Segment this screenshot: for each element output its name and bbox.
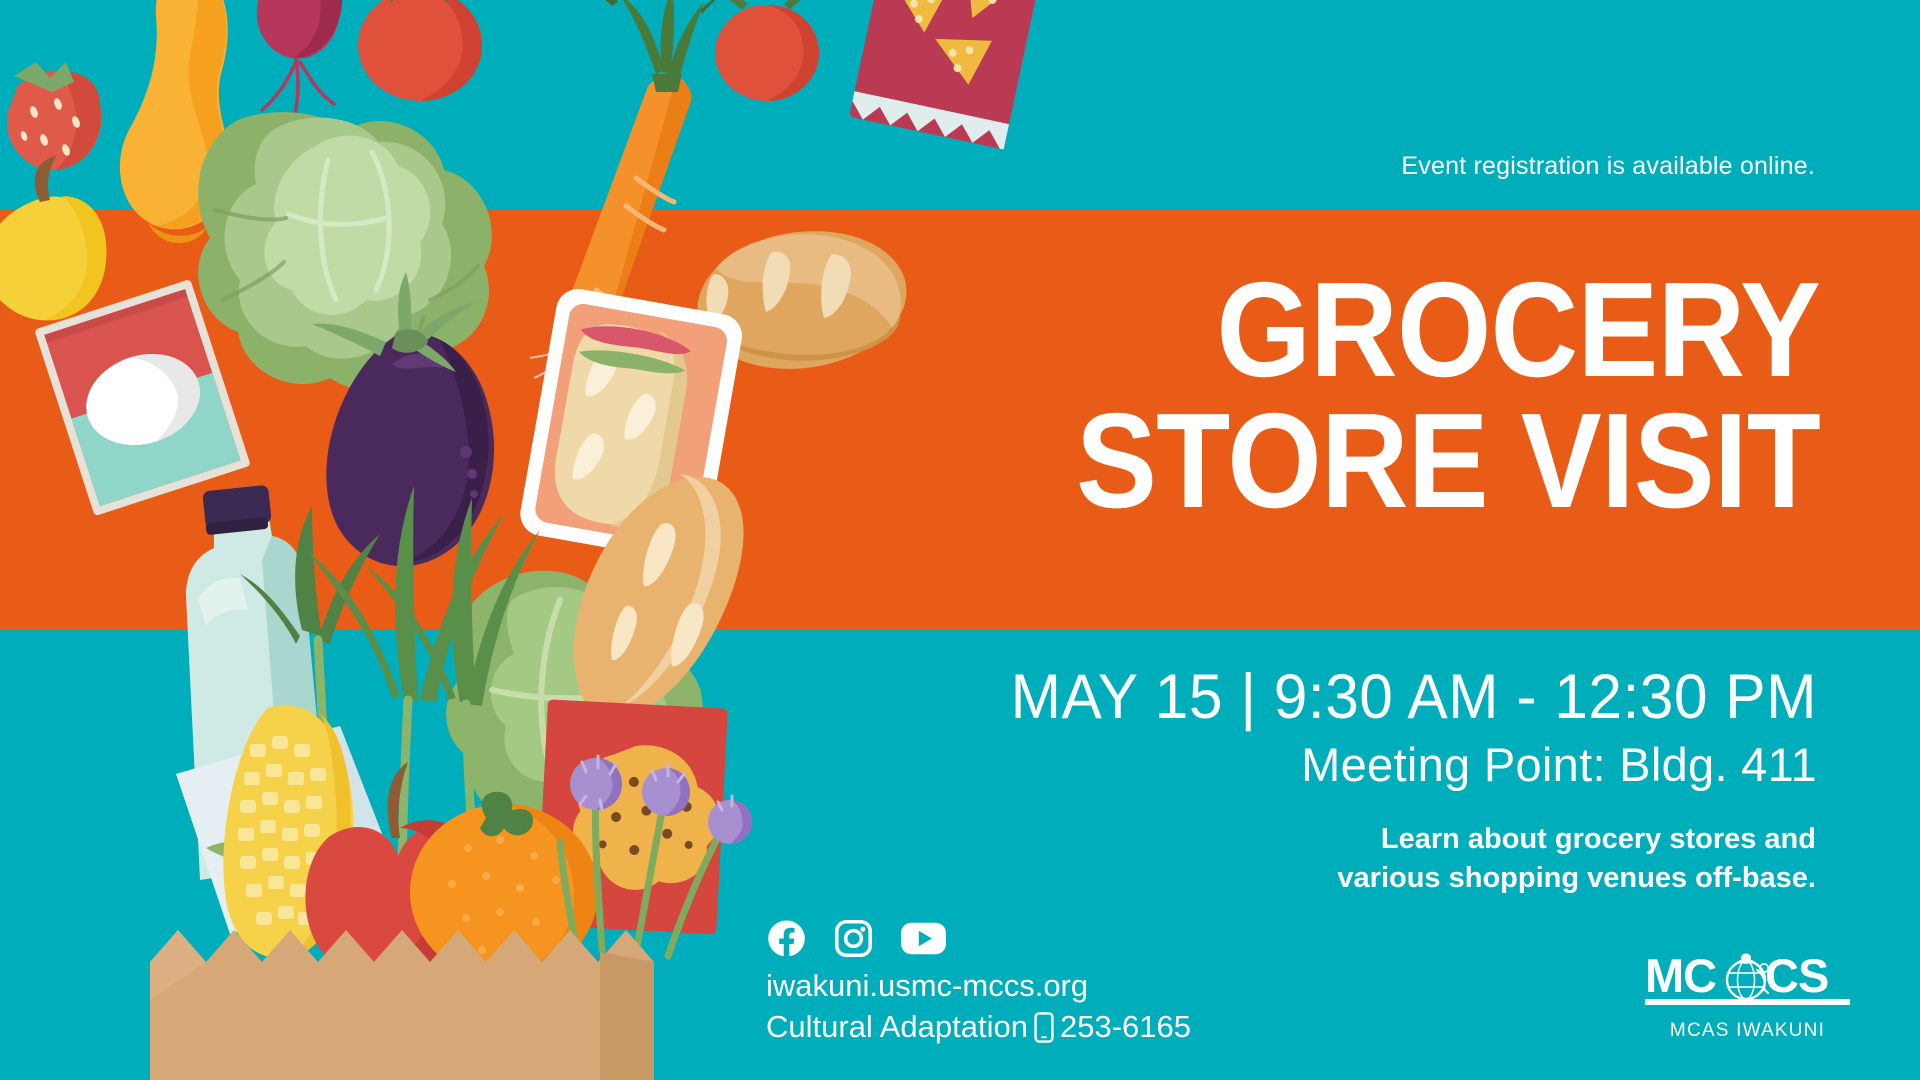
description-line-1: Learn about grocery stores and xyxy=(1381,823,1816,855)
contact-info: iwakuni.usmc-mccs.org Cultural Adaptatio… xyxy=(766,966,1191,1048)
event-description: Learn about grocery stores and various s… xyxy=(1096,820,1816,897)
mobile-phone-icon xyxy=(1034,1012,1054,1043)
poster-canvas: Event registration is available online. … xyxy=(0,0,1920,1080)
description-line-2: various shopping venues off-base. xyxy=(1337,862,1816,894)
title-line-1: GROCERY xyxy=(1216,254,1820,405)
youtube-icon[interactable] xyxy=(900,918,947,959)
svg-text:CS: CS xyxy=(1765,950,1828,1002)
event-meeting-point: Meeting Point: Bldg. 411 xyxy=(1301,737,1817,792)
mccs-wordmark-icon: MC CS xyxy=(1645,950,1850,1012)
page-title: GROCERY STORE VISIT xyxy=(740,265,1820,527)
registration-note: Event registration is available online. xyxy=(1401,152,1815,181)
website-url: iwakuni.usmc-mccs.org xyxy=(766,966,1088,1007)
svg-text:MC: MC xyxy=(1645,950,1716,1002)
website-line[interactable]: iwakuni.usmc-mccs.org xyxy=(766,966,1191,1007)
facebook-icon[interactable] xyxy=(766,918,807,959)
phone-number: 253-6165 xyxy=(1060,1007,1191,1048)
logo-sublabel: MCAS IWAKUNI xyxy=(1645,1020,1850,1042)
department-phone-line: Cultural Adaptation 253-6165 xyxy=(766,1007,1191,1048)
social-links xyxy=(766,918,947,959)
text-content-layer: Event registration is available online. … xyxy=(0,0,1920,1080)
title-line-2: STORE VISIT xyxy=(740,396,1820,527)
event-datetime: MAY 15 | 9:30 AM - 12:30 PM xyxy=(1011,661,1817,733)
department-name: Cultural Adaptation xyxy=(766,1007,1028,1048)
instagram-icon[interactable] xyxy=(833,918,874,959)
eagle-globe-anchor-icon xyxy=(1727,954,1768,1000)
mccs-logo: MC CS xyxy=(1645,950,1850,1042)
